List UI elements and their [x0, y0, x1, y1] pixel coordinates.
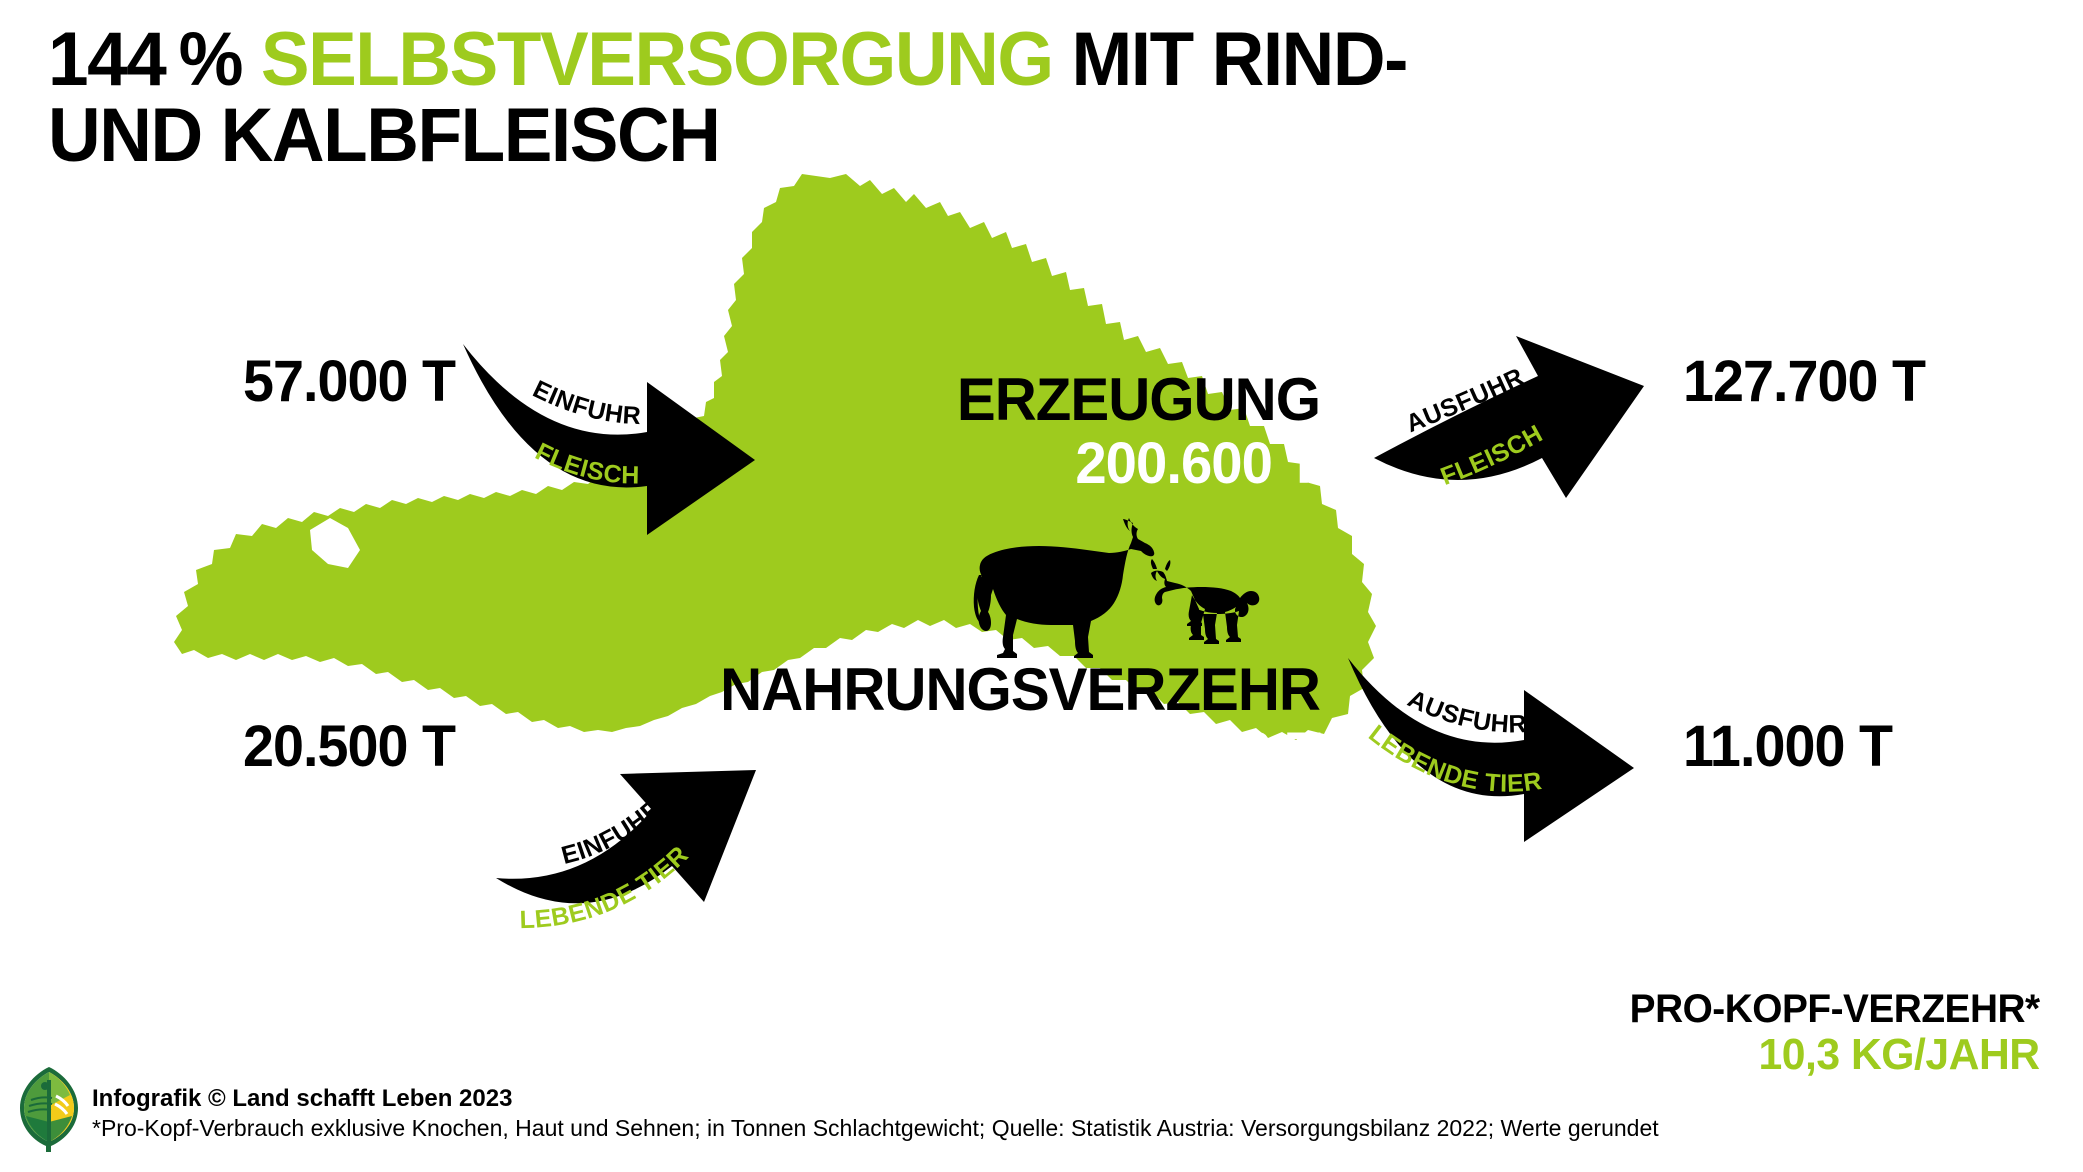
consumption-label: NAHRUNGSVERZEHR	[602, 660, 1320, 720]
title-rest-line1: MIT RIND-	[1071, 17, 1407, 102]
page-title: 144 % SELBSTVERSORGUNG MIT RIND- UND KAL…	[48, 22, 1488, 174]
import-meat-value: 57.000 T	[243, 348, 455, 415]
title-highlight: SELBSTVERSORGUNG	[261, 17, 1053, 102]
export-meat-value: 127.700 T	[1683, 348, 1925, 415]
per-capita-label: PRO-KOPF-VERZEHR*	[1630, 988, 2040, 1030]
per-capita-block: PRO-KOPF-VERZEHR* 10,3 KG/JAHR	[1617, 988, 2040, 1078]
export-live-animals-value: 11.000 T	[1683, 713, 1892, 780]
per-capita-value: 10,3 KG/JAHR	[1630, 1032, 2040, 1078]
footnote: *Pro-Kopf-Verbrauch exklusive Knochen, H…	[92, 1114, 1659, 1144]
arrow-up-right-import-live: EINFUHR LEBENDE TIERE	[490, 760, 840, 980]
arrow-right-import-meat: EINFUHR FLEISCH	[455, 330, 845, 550]
title-line2: UND KALBFLEISCH	[48, 93, 719, 178]
leaf-logo	[18, 1066, 80, 1152]
arrow-right-export-live: AUSFUHR LEBENDE TIERE	[1340, 640, 1710, 860]
import-live-animals-value: 20.500 T	[243, 713, 455, 780]
copyright-credit: Infografik © Land schafft Leben 2023	[92, 1084, 1659, 1114]
title-percent: 144 %	[48, 17, 242, 102]
infographic-root: 144 % SELBSTVERSORGUNG MIT RIND- UND KAL…	[0, 0, 2083, 1172]
arrow-up-right-export-meat: AUSFUHR FLEISCH	[1370, 330, 1710, 550]
cow-and-calf-icon	[955, 515, 1265, 660]
footer-text: Infografik © Land schafft Leben 2023 *Pr…	[92, 1064, 1659, 1144]
arrow-shape	[463, 344, 755, 535]
footer: Infografik © Land schafft Leben 2023 *Pr…	[18, 1064, 1659, 1152]
